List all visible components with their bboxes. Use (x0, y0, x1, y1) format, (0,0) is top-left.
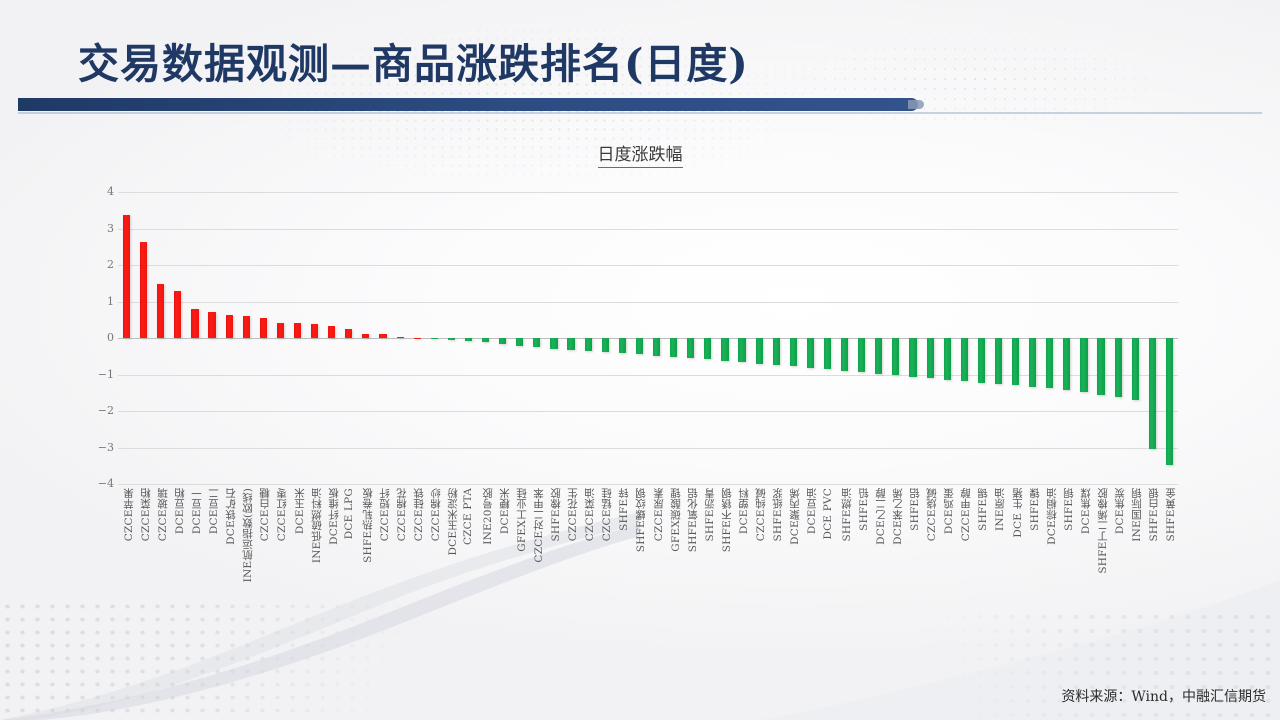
x-axis-tick-label: SHFE螺纹钢 (633, 488, 648, 552)
x-axis-tick-label: INE原油 (992, 488, 1007, 531)
x-axis-tick-label: DCE苯乙烯 (890, 488, 905, 545)
x-axis-tick-label: SHFE镍 (1027, 488, 1042, 531)
bar (670, 338, 677, 357)
x-axis-tick-label: DCE豆粕 (172, 488, 187, 534)
bar (448, 338, 455, 340)
x-axis-tick-label: CZCE尿素 (651, 488, 666, 541)
bar (619, 338, 626, 353)
bar (738, 338, 745, 362)
bar (1115, 338, 1122, 397)
bar (1132, 338, 1139, 400)
x-axis-labels: CZCE苹果CZCE菜粕CZCE玻璃DCE豆粕DCE豆一DCE豆二DCE铁矿石I… (118, 488, 1178, 658)
bar (944, 338, 951, 380)
chart-container: 日度涨跌幅 43210−1−2−3−4 CZCE苹果CZCE菜粕CZCE玻璃DC… (0, 120, 1280, 680)
x-axis-tick-label: GFEX碳酸锂 (668, 488, 683, 552)
bar (499, 338, 506, 344)
bar (516, 338, 523, 346)
x-axis-tick-label: DCE PVC (822, 488, 834, 540)
bar (191, 309, 198, 338)
slide-background: 交易数据观测—商品涨跌排名(日度) 日度涨跌幅 43210−1−2−3−4 CZ… (0, 0, 1280, 720)
bar (345, 329, 352, 338)
title-divider (18, 112, 1262, 114)
title-accent-bar-tail (908, 100, 924, 109)
x-axis-tick-label: SHFE丁二烯橡胶 (1095, 488, 1110, 574)
y-axis-tick-label: −4 (74, 477, 114, 490)
bar (567, 338, 574, 350)
x-axis-tick-label: CZCE甲醇 (958, 488, 973, 541)
x-axis-tick-label: DCE鸡蛋 (941, 488, 956, 534)
x-axis-tick-label: CZCE玻璃 (155, 488, 170, 541)
x-axis-tick-label: INE20号胶 (480, 488, 495, 545)
bar (277, 323, 284, 338)
y-axis-tick-label: 1 (74, 295, 114, 308)
x-axis-tick-label: CZCE锰硅 (599, 488, 614, 541)
bar (157, 284, 164, 338)
x-axis-tick-label: DCE 生猪 (1010, 488, 1025, 538)
x-axis-tick-label: DCE玉米 (292, 488, 307, 534)
x-axis-tick-label: SHFE热轧卷板 (360, 488, 375, 563)
y-axis-tick-label: 2 (74, 258, 114, 271)
chart-title: 日度涨跌幅 (0, 140, 1280, 165)
bar (961, 338, 968, 381)
x-axis-tick-label: DCE焦煤 (1078, 488, 1093, 534)
page-title: 交易数据观测—商品涨跌排名(日度) (78, 30, 749, 90)
bar (1166, 338, 1173, 465)
bar (1029, 338, 1036, 387)
bar (927, 338, 934, 378)
x-axis-tick-label: CZCE菜油 (582, 488, 597, 541)
x-axis-tick-label: SHFE橡胶 (548, 488, 563, 542)
bar (362, 334, 369, 338)
x-axis-tick-label: SHFE纸浆 (770, 488, 785, 542)
x-axis-tick-label: DCE粳米 (497, 488, 512, 534)
bar (1012, 338, 1019, 385)
x-axis-tick-label: SHFE铝 (907, 488, 922, 531)
x-axis-tick-label: DCE豆一 (189, 488, 204, 534)
x-axis-tick-label: CZCE花生 (565, 488, 580, 541)
title-band: 交易数据观测—商品涨跌排名(日度) (0, 0, 1280, 118)
bar (978, 338, 985, 383)
x-axis-tick-label: CZCE硅铁 (411, 488, 426, 541)
bar (687, 338, 694, 358)
x-axis-tick-label: DCE乙二醇 (873, 488, 888, 545)
bar (174, 291, 181, 338)
bar (1080, 338, 1087, 392)
x-axis-tick-label: SHFE白银 (1146, 488, 1161, 542)
x-axis-tick-label: CZCE棉纱 (428, 488, 443, 541)
x-axis-tick-label: DCE纤维板 (326, 488, 341, 545)
bar (243, 316, 250, 338)
bar (414, 338, 421, 339)
title-accent-bar (18, 98, 918, 111)
x-axis-tick-label: GFEX工业硅 (514, 488, 529, 552)
bar (653, 338, 660, 356)
source-note: 资料来源：Wind，中融汇信期货 (1061, 686, 1266, 706)
x-axis-tick-label: CZCE对二甲苯 (531, 488, 546, 563)
x-axis-tick-label: DCE焦炭 (1112, 488, 1127, 534)
bar (533, 338, 540, 347)
x-axis-tick-label: SHFE黄金 (1163, 488, 1178, 542)
x-axis-tick-label: CZCE红枣 (274, 488, 289, 541)
bar (482, 338, 489, 342)
x-axis-tick-label: CZCE菜粕 (138, 488, 153, 541)
bar (1046, 338, 1053, 388)
bar-series (118, 192, 1178, 484)
x-axis-tick-label: SHFE铜 (1061, 488, 1076, 531)
bar (465, 338, 472, 341)
bar (311, 324, 318, 338)
x-axis-tick-label: CZCE苹果 (121, 488, 136, 541)
bar (909, 338, 916, 377)
bar (704, 338, 711, 359)
x-axis-tick-label: CZCE PTA (462, 488, 474, 545)
x-axis-tick-label: CZCE纯碱 (753, 488, 768, 541)
x-axis-tick-label: INE航运指数(欧线) (240, 488, 255, 582)
x-axis-tick-label: CZCE棉花 (394, 488, 409, 541)
bar (875, 338, 882, 374)
bar (260, 318, 267, 338)
bar (858, 338, 865, 372)
bar (1097, 338, 1104, 395)
x-axis-tick-label: SHFE沥青 (702, 488, 717, 542)
bar (140, 242, 147, 338)
x-axis-tick-label: DCE铁矿石 (223, 488, 238, 545)
bar (756, 338, 763, 364)
x-axis-tick-label: DCE聚丙烯 (787, 488, 802, 545)
x-axis-tick-label: DCE LPG (343, 488, 355, 539)
x-axis-tick-label: DCE豆油 (804, 488, 819, 534)
bar (585, 338, 592, 351)
plot-area: 43210−1−2−3−4 (118, 192, 1178, 484)
x-axis-tick-label: INE国际铜 (1129, 488, 1144, 542)
y-axis-tick-label: −1 (74, 368, 114, 381)
bar (397, 337, 404, 338)
y-axis-tick-label: −2 (74, 404, 114, 417)
y-axis-tick-label: 0 (74, 331, 114, 344)
bar (379, 334, 386, 338)
bar (1149, 338, 1156, 449)
y-axis-tick-label: 3 (74, 222, 114, 235)
x-axis-tick-label: SHFE氧化铝 (685, 488, 700, 552)
bar (636, 338, 643, 354)
x-axis-tick-label: CZCE白糖 (257, 488, 272, 541)
bar (123, 215, 130, 338)
x-axis-tick-label: SHFE燃油 (839, 488, 854, 542)
x-axis-tick-label: SHFE铅 (856, 488, 871, 531)
x-axis-tick-label: SHFE不锈钢 (719, 488, 734, 552)
x-axis-tick-label: DCE棕榈油 (1044, 488, 1059, 545)
bar (790, 338, 797, 366)
bar (208, 312, 215, 338)
y-axis-tick-label: 4 (74, 185, 114, 198)
x-axis-tick-label: DCE塑料 (736, 488, 751, 534)
bar (773, 338, 780, 365)
x-axis-tick-label: INE低硫燃料油 (309, 488, 324, 563)
bar (550, 338, 557, 349)
bar (226, 315, 233, 338)
bar (721, 338, 728, 361)
bar (602, 338, 609, 352)
bar (841, 338, 848, 371)
x-axis-tick-label: CZCE短纤 (377, 488, 392, 541)
bar (995, 338, 1002, 384)
x-axis-tick-label: CZCE烧碱 (924, 488, 939, 541)
x-axis-tick-label: SHFE锌 (616, 488, 631, 531)
bar (1063, 338, 1070, 390)
y-axis-tick-label: −3 (74, 441, 114, 454)
x-axis-tick-label: DCE玉米淀粉 (445, 488, 460, 556)
x-axis-tick-label: DCE豆二 (206, 488, 221, 534)
gridline (118, 484, 1178, 485)
bar (294, 323, 301, 338)
chart-title-text: 日度涨跌幅 (598, 145, 683, 168)
bar (892, 338, 899, 375)
bar (328, 326, 335, 338)
x-axis-tick-label: SHFE锡 (975, 488, 990, 531)
bar (824, 338, 831, 369)
bar (431, 338, 438, 339)
bar (807, 338, 814, 368)
